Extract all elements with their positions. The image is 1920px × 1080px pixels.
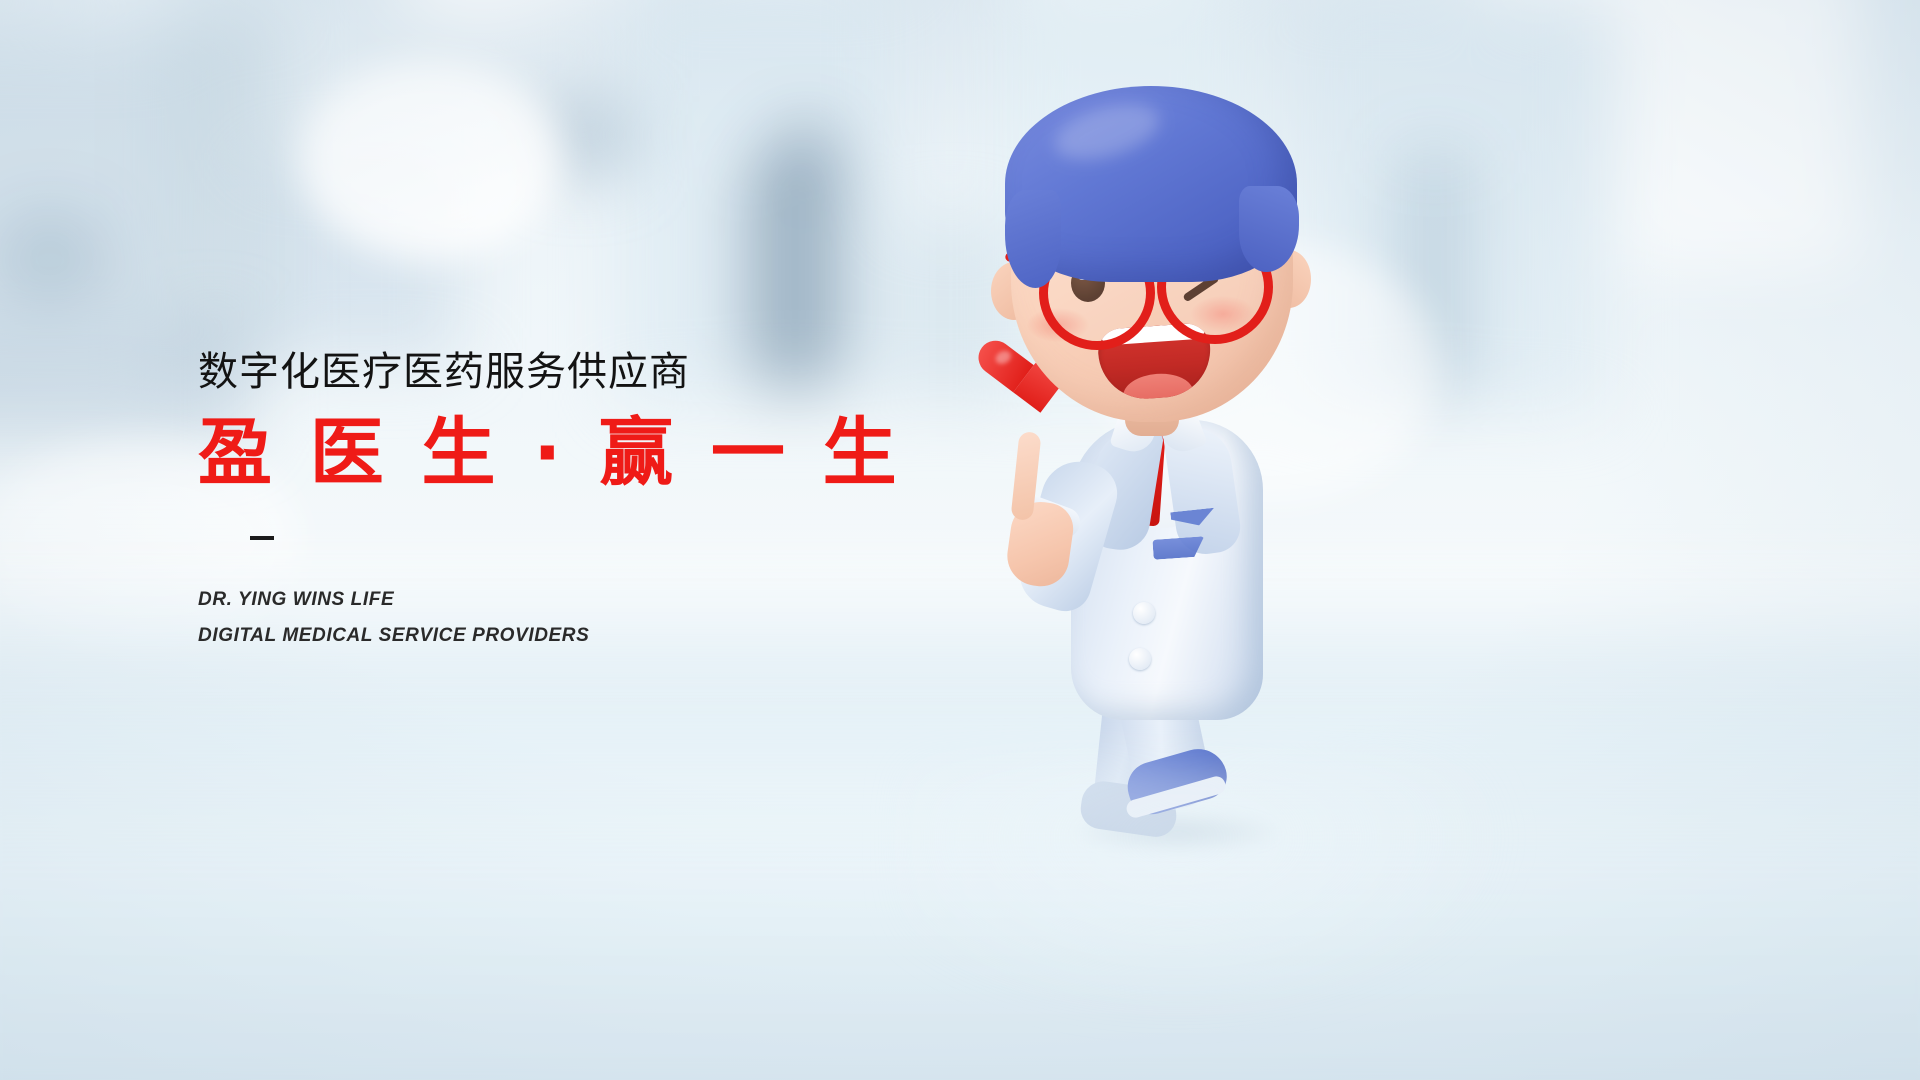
hero-banner: 数字化医疗医药服务供应商 盈 医 生 · 赢 一 生 DR. YING WINS… (0, 0, 1920, 1080)
hero-divider-dash (250, 536, 274, 540)
coat-button (1129, 648, 1151, 670)
hero-text-block: 数字化医疗医药服务供应商 盈 医 生 · 赢 一 生 DR. YING WINS… (198, 352, 958, 654)
hero-kicker: 数字化医疗医药服务供应商 (198, 352, 958, 392)
hero-subtitle-group: DR. YING WINS LIFE DIGITAL MEDICAL SERVI… (198, 582, 958, 654)
hero-subtitle-line-2: DIGITAL MEDICAL SERVICE PROVIDERS (198, 618, 958, 654)
hero-subtitle-line-1: DR. YING WINS LIFE (198, 582, 958, 618)
heart-highlight (993, 348, 1013, 366)
doctor-character-illustration (975, 40, 1395, 860)
coat-button (1133, 602, 1155, 624)
hero-headline: 盈 医 生 · 赢 一 生 (198, 416, 958, 490)
